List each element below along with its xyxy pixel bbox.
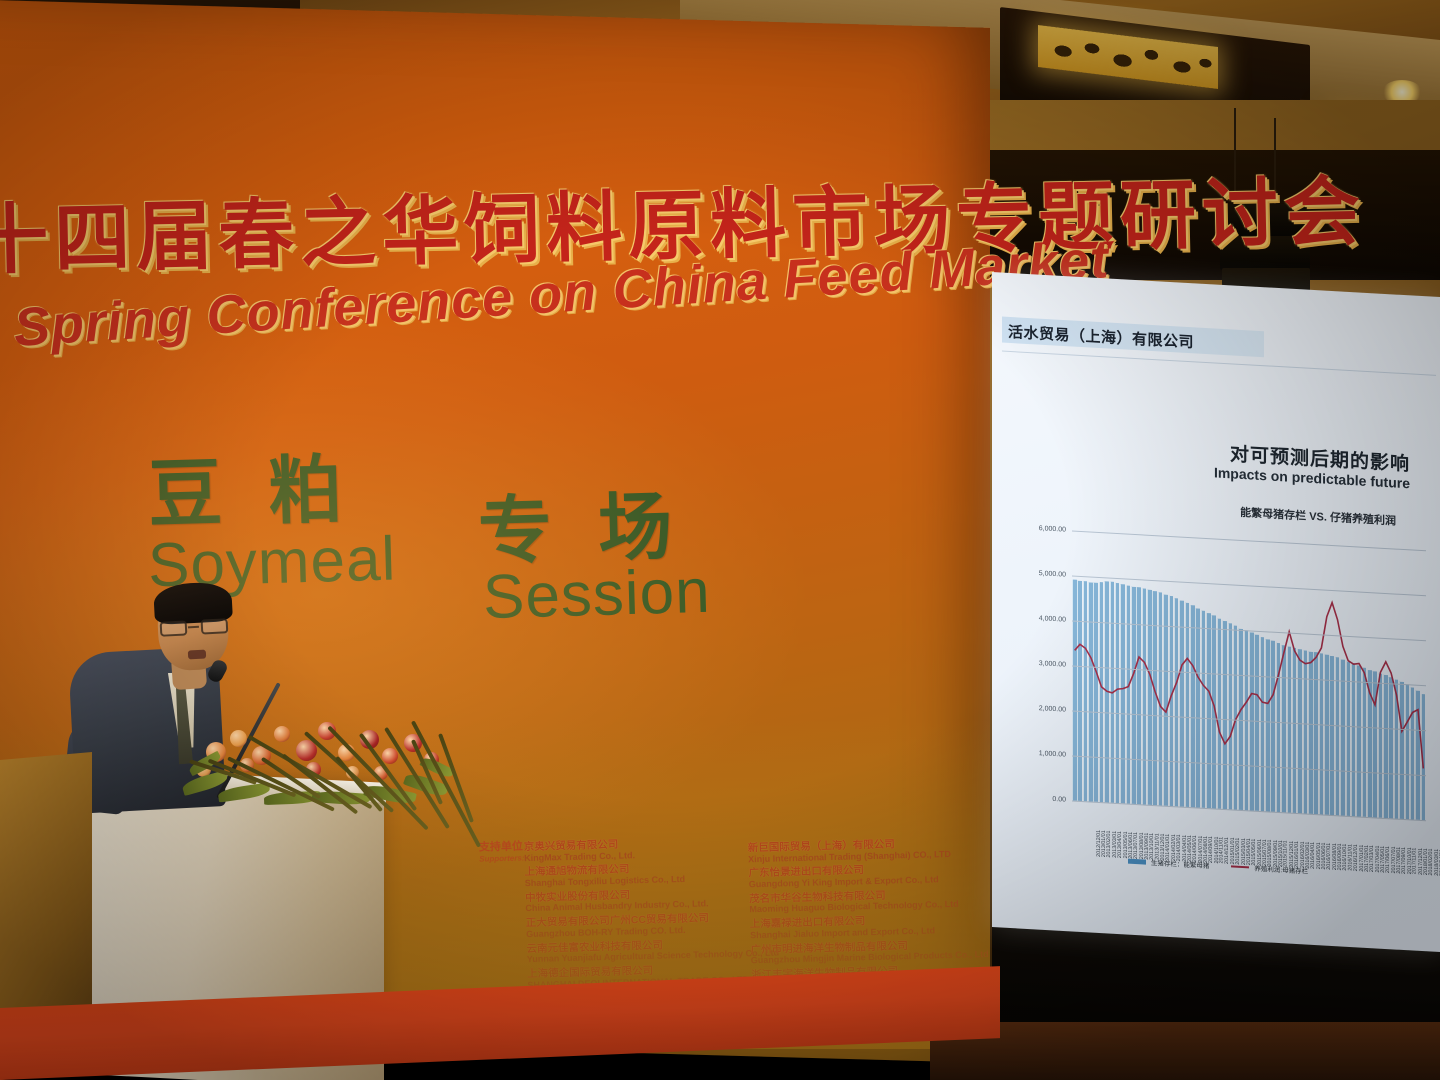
chart-y-tick-label: 4,000.00 (1039, 615, 1066, 624)
chart-plot: 0.001,000.002,000.003,000.004,000.005,00… (1072, 530, 1426, 820)
conference-photo-scene: 第十四届春之华饲料原料市场专题研讨会 JCI Spring Conference… (0, 0, 1440, 1080)
glasses-lens-right (201, 618, 229, 634)
legend-label: 生猪存栏：能繁母猪 (1151, 857, 1210, 870)
speaker-mouth (188, 650, 206, 660)
chart-y-tick-label: 1,000.00 (1039, 750, 1066, 759)
session-title-en-session: Session (482, 556, 711, 633)
legend-label: 养殖利润:母猪存栏 (1254, 863, 1308, 876)
chart-y-tick-label: 0.00 (1052, 796, 1066, 804)
glasses-bridge (188, 626, 199, 629)
chart-y-tick-label: 5,000.00 (1039, 570, 1066, 579)
projection-screen: 活水贸易（上海）有限公司 对可预测后期的影响 Impacts on predic… (992, 272, 1440, 952)
legend-bar-swatch (1128, 858, 1146, 864)
chart-y-tick-label: 6,000.00 (1039, 525, 1066, 534)
slide-content: 活水贸易（上海）有限公司 对可预测后期的影响 Impacts on predic… (992, 272, 1440, 952)
chart-y-tick-label: 2,000.00 (1039, 705, 1066, 714)
chart-area: 0.001,000.002,000.003,000.004,000.005,00… (1006, 515, 1430, 869)
flower-bloom (274, 726, 290, 742)
flower-leaf (217, 782, 270, 802)
chart-title: 能繁母猪存栏 VS. 仔猪养殖利润 (1240, 504, 1396, 529)
chart-y-tick-label: 3,000.00 (1039, 660, 1066, 669)
glasses-lens-left (160, 620, 188, 636)
floor-right (930, 1022, 1440, 1080)
chart-x-tick-label: 2017/11/01 (1412, 847, 1418, 874)
flower-bloom (382, 748, 398, 764)
flower-arrangement (178, 700, 478, 870)
flower-bloom (230, 730, 247, 747)
legend-line-swatch (1231, 865, 1249, 869)
